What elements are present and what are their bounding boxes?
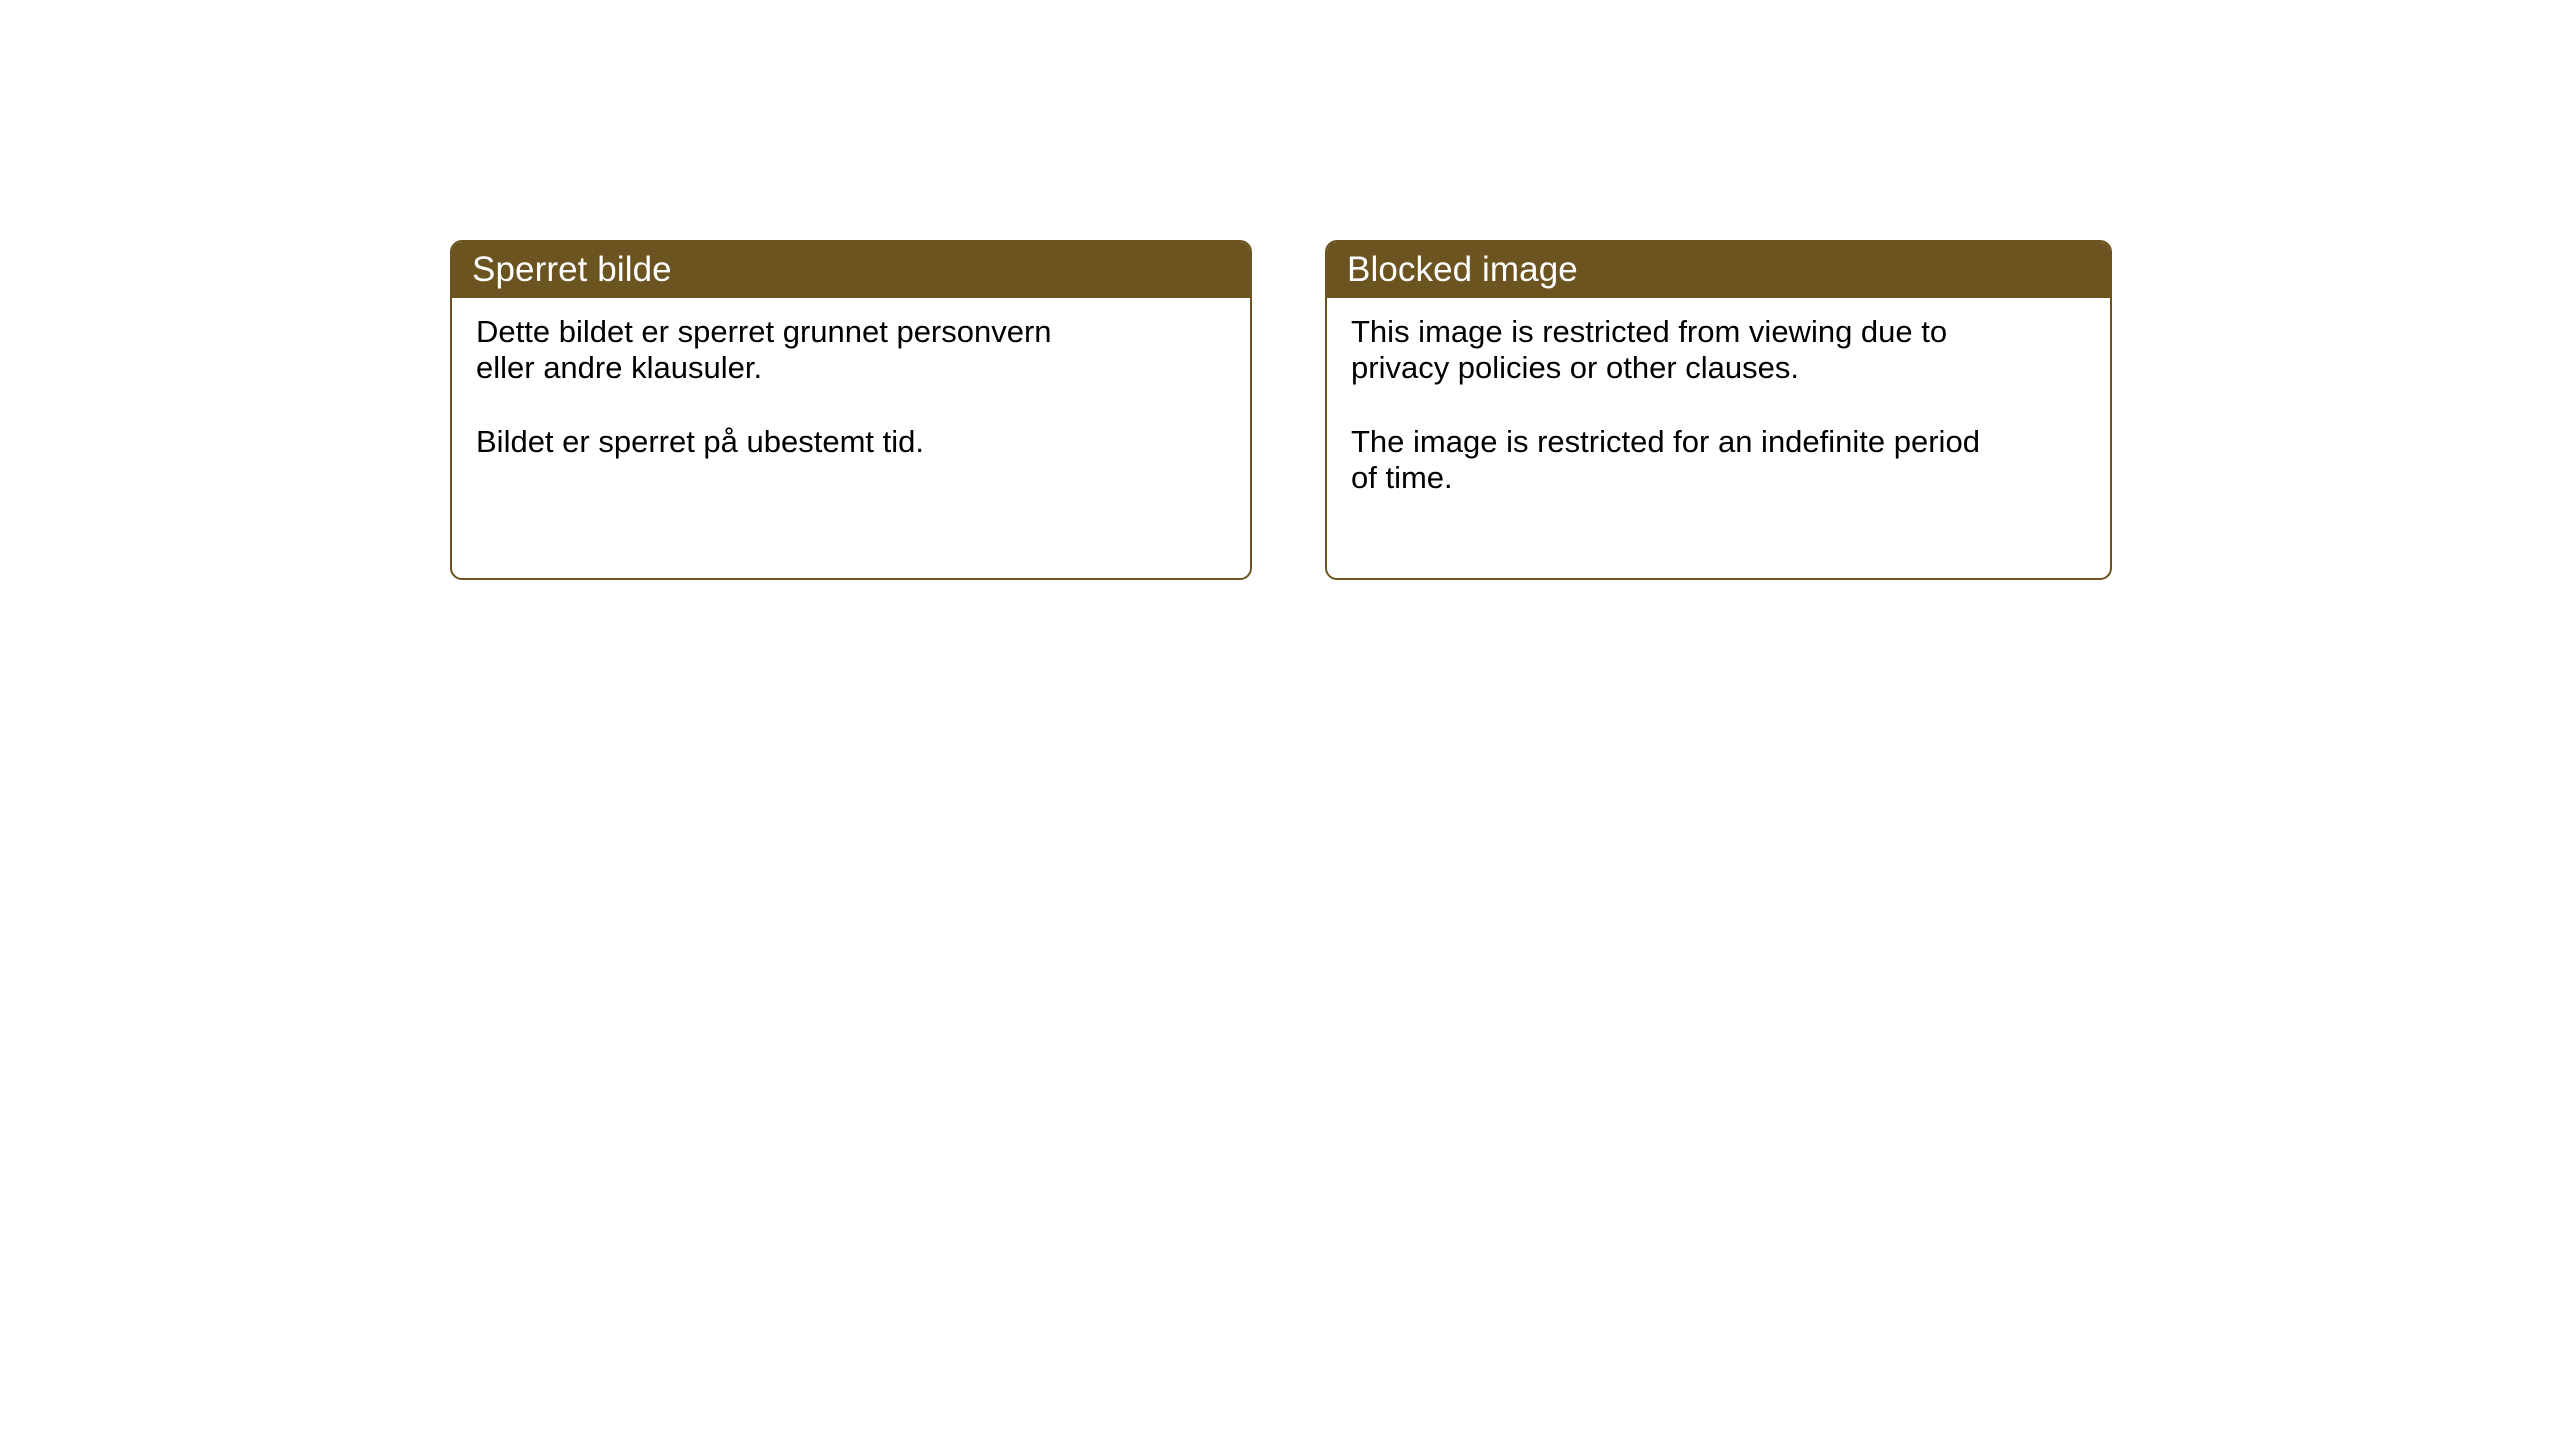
card-paragraph-duration-english: The image is restricted for an indefinit… (1351, 424, 2086, 497)
card-title-norwegian: Sperret bilde (472, 252, 672, 287)
card-paragraph-duration-norwegian: Bildet er sperret på ubestemt tid. (476, 424, 1226, 460)
blocked-image-notice-card-norwegian: Sperret bilde Dette bildet er sperret gr… (450, 240, 1252, 580)
paragraph-spacer (1351, 387, 2086, 424)
card-paragraph-reason-english: This image is restricted from viewing du… (1351, 314, 2086, 387)
card-title-english: Blocked image (1347, 252, 1578, 287)
card-header-english: Blocked image (1325, 240, 2112, 298)
card-body-norwegian: Dette bildet er sperret grunnet personve… (452, 298, 1250, 484)
page-root: Sperret bilde Dette bildet er sperret gr… (0, 0, 2560, 1440)
blocked-image-notice-card-english: Blocked image This image is restricted f… (1325, 240, 2112, 580)
card-body-english: This image is restricted from viewing du… (1327, 298, 2110, 520)
paragraph-spacer (476, 387, 1226, 424)
card-paragraph-reason-norwegian: Dette bildet er sperret grunnet personve… (476, 314, 1226, 387)
card-header-norwegian: Sperret bilde (450, 240, 1252, 298)
